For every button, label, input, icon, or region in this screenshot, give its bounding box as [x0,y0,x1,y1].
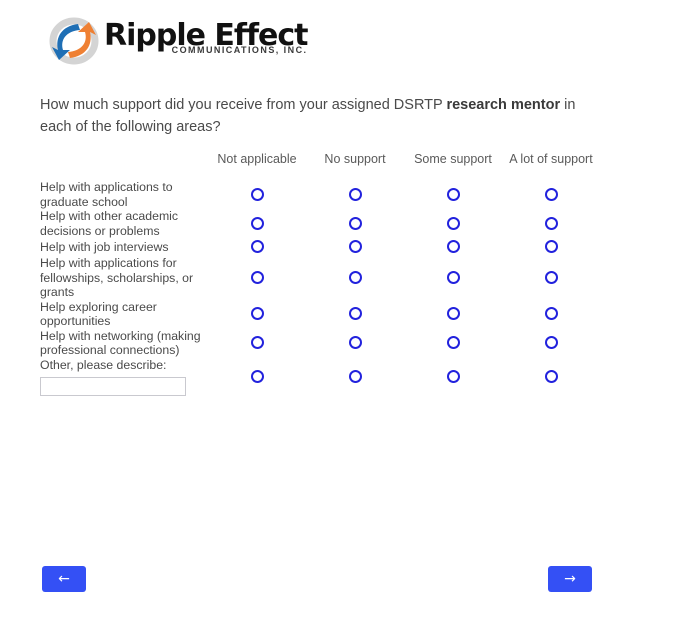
cell-row5-col0[interactable] [208,329,306,358]
radio-row5-col3[interactable] [545,336,558,349]
table-row: Help with applications to graduate schoo… [40,180,600,209]
radio-row2-col2[interactable] [447,240,460,253]
cell-row6-col0[interactable] [208,358,306,396]
cell-row2-col3[interactable] [502,238,600,256]
column-header-some-support: Some support [404,152,502,180]
cell-row6-col2[interactable] [404,358,502,396]
radio-row3-col2[interactable] [447,271,460,284]
matrix-body: Help with applications to graduate schoo… [40,180,600,396]
radio-row2-col1[interactable] [349,240,362,253]
ripple-swoosh-logo-icon [48,17,100,65]
cell-row3-col2[interactable] [404,256,502,300]
question-emphasis: research mentor [446,97,560,113]
radio-row0-col1[interactable] [349,188,362,201]
column-header-no-support: No support [306,152,404,180]
next-page-button[interactable]: → [548,566,592,592]
row-label: Help with applications for fellowships, … [40,256,208,300]
table-row: Help with applications for fellowships, … [40,256,600,300]
brand-logo: Ripple Effect COMMUNICATIONS, INC. [48,16,307,66]
cell-row6-col1[interactable] [306,358,404,396]
cell-row0-col2[interactable] [404,180,502,209]
survey-navigation: ← → [42,566,592,592]
cell-row5-col3[interactable] [502,329,600,358]
cell-row1-col1[interactable] [306,209,404,238]
table-row: Help with other academic decisions or pr… [40,209,600,238]
radio-row0-col0[interactable] [251,188,264,201]
radio-row2-col3[interactable] [545,240,558,253]
radio-row2-col0[interactable] [251,240,264,253]
cell-row2-col2[interactable] [404,238,502,256]
radio-row1-col3[interactable] [545,217,558,230]
radio-row1-col0[interactable] [251,217,264,230]
cell-row3-col3[interactable] [502,256,600,300]
row-label-other: Other, please describe: [40,358,208,396]
column-header-not-applicable: Not applicable [208,152,306,180]
radio-row3-col0[interactable] [251,271,264,284]
cell-row4-col2[interactable] [404,300,502,329]
radio-row4-col0[interactable] [251,307,264,320]
row-label: Help with networking (making professiona… [40,329,208,358]
cell-row1-col2[interactable] [404,209,502,238]
brand-wordmark: Ripple Effect COMMUNICATIONS, INC. [104,19,307,63]
question-text: How much support did you receive from yo… [40,94,596,138]
cell-row6-col3[interactable] [502,358,600,396]
radio-row0-col2[interactable] [447,188,460,201]
cell-row2-col1[interactable] [306,238,404,256]
cell-row0-col3[interactable] [502,180,600,209]
cell-row5-col2[interactable] [404,329,502,358]
radio-row6-col2[interactable] [447,370,460,383]
radio-row5-col1[interactable] [349,336,362,349]
cell-row4-col0[interactable] [208,300,306,329]
radio-row6-col3[interactable] [545,370,558,383]
row-label: Help with other academic decisions or pr… [40,209,208,238]
cell-row5-col1[interactable] [306,329,404,358]
table-row: Help with job interviews [40,238,600,256]
table-row: Help with networking (making professiona… [40,329,600,358]
question-part-1: How much support did you receive from yo… [40,97,446,113]
column-header-a-lot-of-support: A lot of support [502,152,600,180]
cell-row0-col1[interactable] [306,180,404,209]
radio-row5-col0[interactable] [251,336,264,349]
table-row-other: Other, please describe: [40,358,600,396]
matrix-corner-cell [40,152,208,180]
cell-row4-col1[interactable] [306,300,404,329]
other-label-text: Other, please describe: [40,358,166,372]
radio-row6-col0[interactable] [251,370,264,383]
row-label: Help exploring career opportunities [40,300,208,329]
other-describe-input[interactable] [40,377,186,396]
previous-page-button[interactable]: ← [42,566,86,592]
radio-row5-col2[interactable] [447,336,460,349]
cell-row1-col3[interactable] [502,209,600,238]
support-matrix: Not applicable No support Some support A… [40,152,600,396]
radio-row4-col1[interactable] [349,307,362,320]
cell-row1-col0[interactable] [208,209,306,238]
cell-row0-col0[interactable] [208,180,306,209]
matrix-header-row: Not applicable No support Some support A… [40,152,600,180]
cell-row2-col0[interactable] [208,238,306,256]
radio-row1-col1[interactable] [349,217,362,230]
cell-row3-col0[interactable] [208,256,306,300]
table-row: Help exploring career opportunities [40,300,600,329]
radio-row6-col1[interactable] [349,370,362,383]
radio-row3-col3[interactable] [545,271,558,284]
cell-row3-col1[interactable] [306,256,404,300]
radio-row0-col3[interactable] [545,188,558,201]
radio-row3-col1[interactable] [349,271,362,284]
row-label: Help with applications to graduate schoo… [40,180,208,209]
radio-row4-col3[interactable] [545,307,558,320]
radio-row1-col2[interactable] [447,217,460,230]
row-label: Help with job interviews [40,238,208,256]
brand-tagline: COMMUNICATIONS, INC. [172,45,308,55]
radio-row4-col2[interactable] [447,307,460,320]
cell-row4-col3[interactable] [502,300,600,329]
